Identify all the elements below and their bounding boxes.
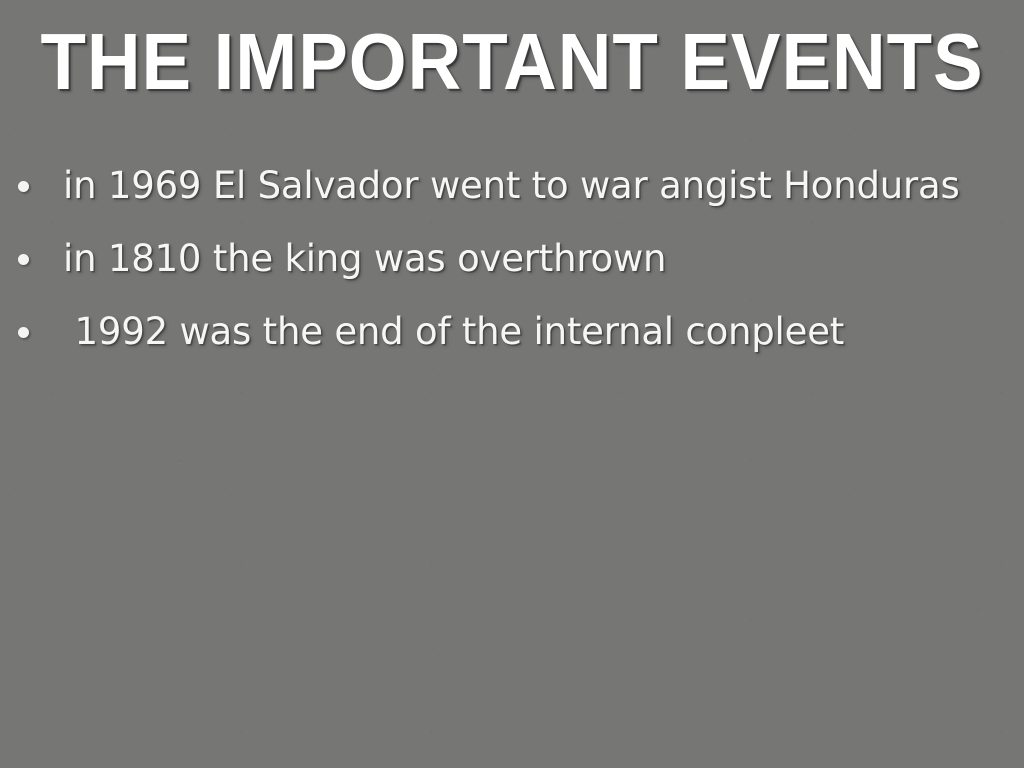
bullet-list: in 1969 El Salvador went to war angist H… [0, 150, 1024, 369]
presentation-slide: THE IMPORTANT EVENTS in 1969 El Salvador… [0, 0, 1024, 768]
bullet-dot-icon [18, 181, 29, 192]
bullet-text: in 1810 the king was overthrown [63, 240, 666, 279]
bullet-dot-icon [18, 327, 29, 338]
bullet-dot-icon [18, 254, 29, 265]
list-item: in 1810 the king was overthrown [0, 223, 1024, 296]
page-title: THE IMPORTANT EVENTS [40, 22, 983, 102]
bullet-text: in 1969 El Salvador went to war angist H… [63, 167, 960, 206]
bullet-text: 1992 was the end of the internal conplee… [63, 313, 844, 352]
list-item: in 1969 El Salvador went to war angist H… [0, 150, 1024, 223]
list-item: 1992 was the end of the internal conplee… [0, 296, 1024, 369]
slide-title-block: THE IMPORTANT EVENTS [0, 22, 1024, 102]
